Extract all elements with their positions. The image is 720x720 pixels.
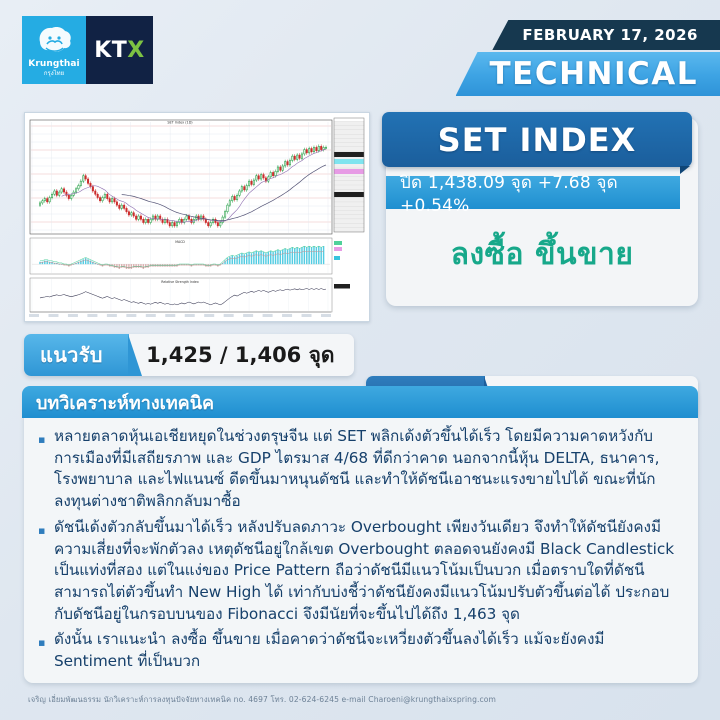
set-index-signal: ลงซื้อ ขึ้นขาย <box>386 218 698 290</box>
analyst-disclaimer: เจริญ เอี่ยมพัฒนธรรม นักวิเคราะห์การลงทุ… <box>28 694 698 706</box>
analysis-bullet-text: ดัชนีเด้งตัวกลับขึ้นมาได้เร็ว หลังปรับลด… <box>54 517 684 626</box>
analysis-bullet: ▪หลายตลาดหุ้นเอเชียหยุดในช่วงตรุษจีน แต่… <box>38 426 684 513</box>
set-index-panel: SET INDEX ปิด 1,438.09 จุด +7.68 จุด +0.… <box>386 118 698 306</box>
krungthai-wordmark-thai: กรุงไทย <box>44 69 64 78</box>
page-header: Krungthai กรุงไทย KTX FEBRUARY 17, 2026 … <box>0 0 720 104</box>
svg-text:MACD: MACD <box>175 240 185 244</box>
chart-canvas: SET Index (1D)MACDRelative Strength Inde… <box>28 116 366 318</box>
section-title-ribbon: TECHNICAL <box>456 52 720 96</box>
analysis-heading: บทวิเคราะห์ทางเทคนิค <box>22 386 698 418</box>
krungthai-emblem-icon <box>34 24 74 58</box>
technical-chart-card[interactable]: SET Index (1D)MACDRelative Strength Inde… <box>24 112 370 322</box>
set-index-quote: ปิด 1,438.09 จุด +7.68 จุด +0.54% <box>386 176 680 209</box>
support-levels: แนวรับ 1,425 / 1,406 จุด <box>24 334 354 376</box>
analysis-card: บทวิเคราะห์ทางเทคนิค ▪หลายตลาดหุ้นเอเชีย… <box>24 388 698 683</box>
analysis-bullet-list: ▪หลายตลาดหุ้นเอเชียหยุดในช่วงตรุษจีน แต่… <box>24 422 698 677</box>
bullet-square-icon: ▪ <box>38 629 54 672</box>
support-value: 1,425 / 1,406 จุด <box>129 339 354 372</box>
bullet-square-icon: ▪ <box>38 517 54 626</box>
analysis-bullet: ▪ดังนั้น เราแนะนำ ลงซื้อ ขึ้นขาย เมื่อคา… <box>38 629 684 672</box>
analysis-bullet: ▪ดัชนีเด้งตัวกลับขึ้นมาได้เร็ว หลังปรับล… <box>38 517 684 626</box>
set-index-chart: SET Index (1D)MACDRelative Strength Inde… <box>28 116 368 320</box>
analysis-bullet-text: ดังนั้น เราแนะนำ ลงซื้อ ขึ้นขาย เมื่อคาด… <box>54 629 684 672</box>
brand-logos: Krungthai กรุงไทย KTX <box>22 16 153 84</box>
ktx-logo-x: X <box>127 38 144 63</box>
svg-text:SET Index (1D): SET Index (1D) <box>167 121 193 125</box>
krungthai-logo: Krungthai กรุงไทย <box>22 16 86 84</box>
krungthai-wordmark: Krungthai <box>28 60 79 69</box>
support-label: แนวรับ <box>24 334 129 376</box>
ktx-logo: KTX <box>86 16 153 84</box>
date-ribbon: FEBRUARY 17, 2026 <box>492 20 720 50</box>
analysis-bullet-text: หลายตลาดหุ้นเอเชียหยุดในช่วงตรุษจีน แต่ … <box>54 426 684 513</box>
set-index-title: SET INDEX <box>382 112 692 167</box>
ktx-logo-kt: KT <box>94 38 127 63</box>
svg-text:Relative Strength Index: Relative Strength Index <box>161 280 199 284</box>
bullet-square-icon: ▪ <box>38 426 54 513</box>
